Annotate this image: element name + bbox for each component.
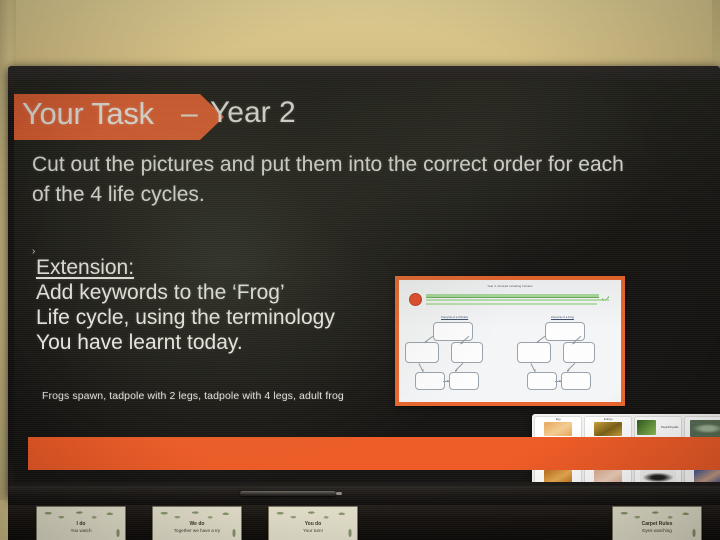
stylus-pen[interactable] bbox=[240, 491, 336, 496]
worksheet-box bbox=[527, 372, 557, 390]
fern-decoration-icon bbox=[40, 508, 122, 521]
wall-card-text: You watch bbox=[37, 528, 125, 533]
instruction-line-1: Cut out the pictures and put them into t… bbox=[32, 150, 720, 180]
wala-line-3 bbox=[426, 303, 597, 306]
picture-card[interactable]: Egg bbox=[534, 416, 582, 439]
worksheet-box bbox=[563, 342, 595, 363]
worksheet-stamp-icon bbox=[409, 293, 422, 306]
extension-line-3: You have learnt today. bbox=[36, 330, 335, 355]
wall-card-title: We do bbox=[153, 521, 241, 527]
classroom-photo-scene: Your Task – Year 2 Cut out the pictures … bbox=[0, 0, 720, 540]
worksheet-box bbox=[415, 372, 445, 390]
worksheet-title: Year 2: Animals including humans bbox=[399, 285, 621, 288]
leaf-decoration-icon bbox=[113, 526, 123, 540]
picture-card[interactable]: Pupa/Chrysalis bbox=[634, 416, 682, 439]
worksheet-arrow-icon bbox=[455, 363, 463, 371]
keyword-footnote: Frogs spawn, tadpole with 2 legs, tadpol… bbox=[42, 390, 344, 402]
worksheet-arrow-icon bbox=[555, 381, 561, 382]
worksheet-box bbox=[449, 372, 479, 390]
wall-card-title: I do bbox=[37, 521, 125, 527]
bullet-tick-icon: › bbox=[32, 246, 35, 257]
picture-card-label: Egg bbox=[556, 418, 561, 421]
wall-display-card: I doYou watch bbox=[36, 506, 126, 540]
title-dash: – bbox=[181, 97, 198, 131]
fern-decoration-icon bbox=[272, 508, 354, 521]
presentation-slide: Your Task – Year 2 Cut out the pictures … bbox=[14, 80, 720, 482]
leaf-decoration-icon bbox=[345, 526, 355, 540]
leaf-decoration-icon bbox=[229, 526, 239, 540]
extension-block: › Extension: Add keywords to the ‘Frog’ … bbox=[36, 255, 335, 355]
leaf-decoration-icon bbox=[689, 526, 699, 540]
wall-display-card: We doTogether we have a try bbox=[152, 506, 242, 540]
extension-heading: Extension: bbox=[36, 255, 335, 280]
display-screen[interactable]: Your Task – Year 2 Cut out the pictures … bbox=[14, 80, 720, 482]
stylus-tip-icon bbox=[336, 492, 342, 495]
slide-bottom-bar bbox=[28, 437, 720, 470]
wall-card-text: Together we have a try bbox=[153, 528, 241, 533]
instruction-line-2: of the 4 life cycles. bbox=[32, 180, 720, 210]
worksheet-arrow-icon bbox=[419, 363, 424, 371]
slide-title-area: Your Task – Year 2 bbox=[14, 94, 534, 140]
picture-card-label: Embryo bbox=[604, 418, 613, 421]
worksheet-arrow-icon bbox=[531, 363, 536, 371]
title-highlight-text: Your Task bbox=[22, 96, 154, 132]
worksheet-box bbox=[517, 342, 551, 363]
worksheet-arrow-icon bbox=[567, 363, 575, 371]
picture-card-image bbox=[594, 470, 622, 482]
picture-card-label: Pupa/Chrysalis bbox=[661, 426, 678, 429]
extension-line-2: Life cycle, using the terminology bbox=[36, 305, 335, 330]
picture-card-image bbox=[594, 422, 622, 436]
extension-line-1: Add keywords to the ‘Frog’ bbox=[36, 280, 335, 305]
worksheet-arrow-icon bbox=[443, 381, 449, 382]
wall-display-card: You doYour turn! bbox=[268, 506, 358, 540]
picture-card-image bbox=[690, 420, 720, 437]
picture-card[interactable]: Embryo bbox=[584, 416, 632, 439]
fern-decoration-icon bbox=[616, 508, 698, 521]
title-subtitle-text: Year 2 bbox=[210, 96, 296, 130]
worksheet-diagram-label-1: Lifecycle of a Chicken bbox=[441, 315, 468, 319]
picture-card-image bbox=[694, 470, 720, 482]
worksheet-box bbox=[405, 342, 439, 363]
worksheet-wala-block bbox=[426, 293, 611, 309]
worksheet-diagram-label-2: Lifecycle of a Frog bbox=[551, 315, 574, 319]
wall-card-title: You do bbox=[269, 521, 357, 527]
picture-card-image bbox=[544, 470, 572, 482]
wala-line-2 bbox=[426, 299, 609, 302]
worksheet-page: Year 2: Animals including humans Lifecyc… bbox=[399, 280, 621, 402]
picture-card-image bbox=[544, 422, 572, 436]
wall-card-text: Your turn! bbox=[269, 528, 357, 533]
picture-card[interactable] bbox=[684, 416, 720, 439]
wall-display-card: Carpet RulesEyes watching bbox=[612, 506, 702, 540]
worksheet-thumbnail[interactable]: Year 2: Animals including humans Lifecyc… bbox=[395, 276, 625, 406]
wall-card-text: Eyes watching bbox=[613, 528, 701, 533]
picture-card-image bbox=[640, 469, 676, 482]
wall-card-title: Carpet Rules bbox=[613, 521, 701, 527]
wala-line-1 bbox=[426, 294, 599, 298]
worksheet-box bbox=[561, 372, 591, 390]
picture-card-image bbox=[637, 420, 656, 435]
fern-decoration-icon bbox=[156, 508, 238, 521]
worksheet-box bbox=[451, 342, 483, 363]
